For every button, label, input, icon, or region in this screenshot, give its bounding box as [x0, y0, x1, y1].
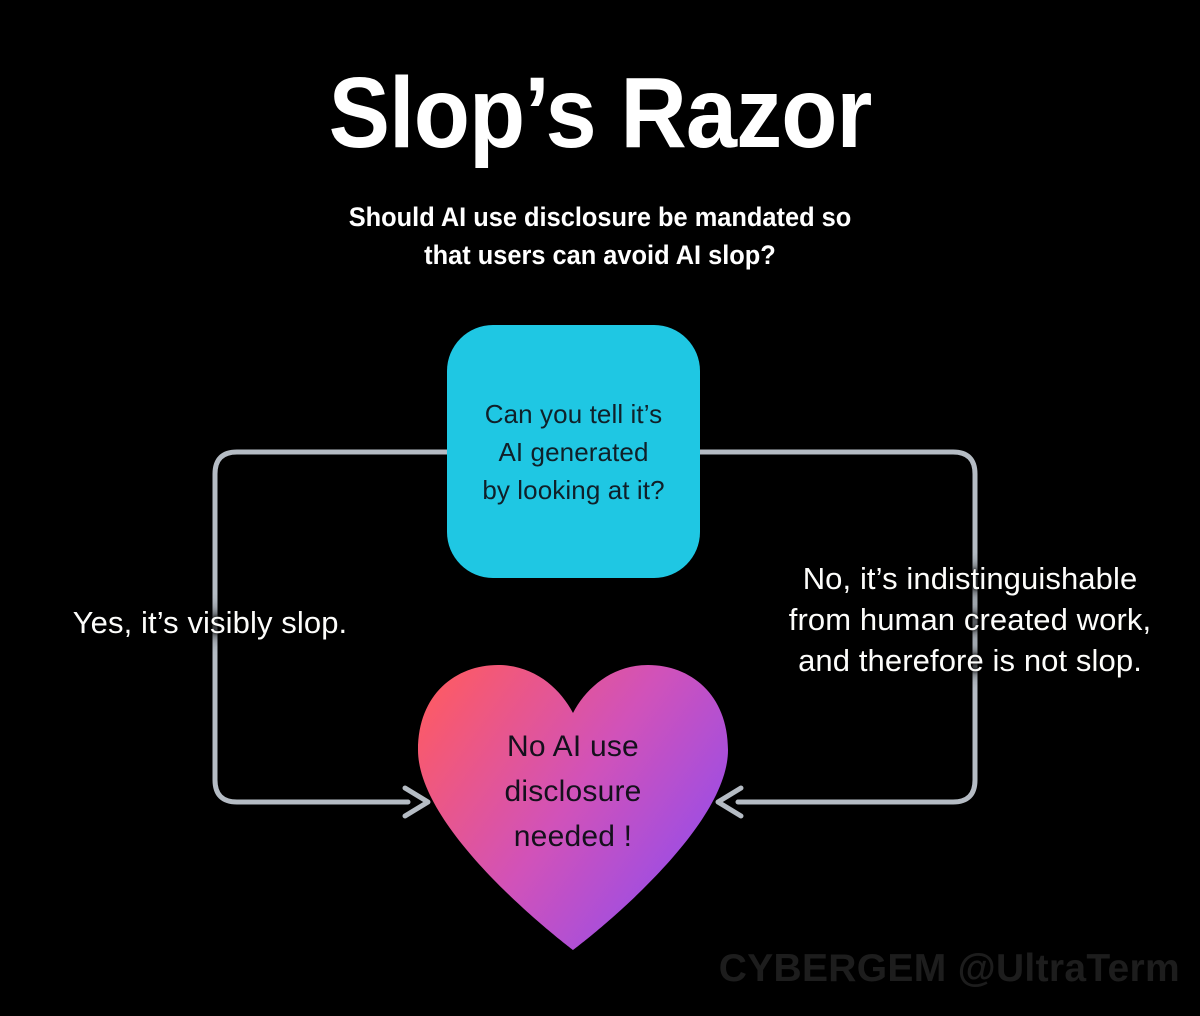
decision-node-text: Can you tell it’s AI generated by lookin… [482, 395, 664, 509]
decision-line-1: Can you tell it’s [482, 395, 664, 433]
decision-line-3: by looking at it? [482, 471, 664, 509]
infographic-canvas: Slop’s Razor Should AI use disclosure be… [0, 0, 1200, 1016]
branch-yes-line-1: Yes, it’s visibly slop. [0, 602, 420, 643]
decision-node[interactable]: Can you tell it’s AI generated by lookin… [447, 325, 700, 578]
decision-line-2: AI generated [482, 433, 664, 471]
branch-no-line-1: No, it’s indistinguishable [755, 558, 1185, 599]
branch-no-line-2: from human created work, [755, 599, 1185, 640]
branch-label-no: No, it’s indistinguishable from human cr… [755, 558, 1185, 681]
branch-label-yes: Yes, it’s visibly slop. [0, 602, 420, 643]
watermark: CYBERGEM @UltraTerm [719, 947, 1180, 991]
branch-no-line-3: and therefore is not slop. [755, 640, 1185, 681]
heart-icon [412, 658, 734, 950]
terminal-node-heart[interactable]: No AI use disclosure needed ! [412, 658, 734, 950]
